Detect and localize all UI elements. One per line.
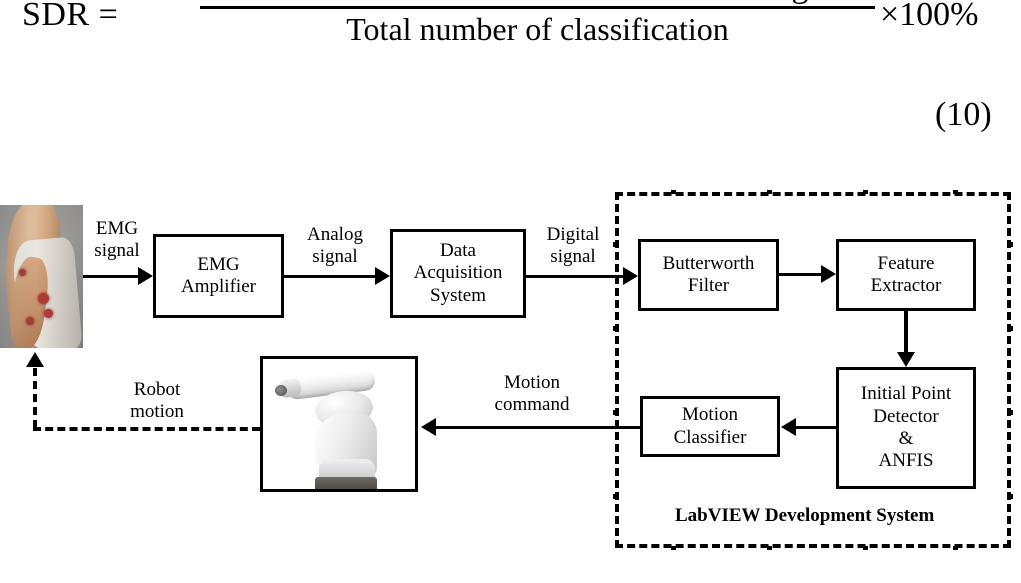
connector-butterworth-filter-to-feature-extractor [779,273,823,276]
arrowhead-anfis-to-motion-classifier [781,418,796,436]
block-emg-amplifier-label: EMG Amplifier [177,254,260,299]
block-butterworth-filter-label: Butterworth Filter [659,253,759,298]
block-initial-point-detector-anfis[interactable]: Initial Point Detector & ANFIS [836,367,976,489]
arrowhead-feature-extractor-to-anfis [897,352,915,367]
edge-label-analog-signal: Analog signal [297,224,373,268]
equation-denominator: Total number of classification [200,11,875,47]
block-emg-amplifier[interactable]: EMG Amplifier [153,234,284,318]
equation-numerator: Number of successful motion following [200,0,875,4]
arrowhead-butterworth-filter-to-feature-extractor [821,265,836,283]
fraction-bar [200,6,875,9]
labview-enclosure-caption: LabVIEW Development System [675,505,934,527]
feedback-path-vertical-robot-to-arm [33,368,37,428]
arrowhead-data-acquisition-to-butterworth-filter [623,267,638,285]
edge-label-digital-signal: Digital signal [534,224,612,268]
edge-label-emg-signal: EMG signal [86,218,148,262]
block-butterworth-filter[interactable]: Butterworth Filter [638,239,779,311]
edge-label-motion-command: Motion command [477,372,587,416]
block-feature-extractor-label: Feature Extractor [867,253,946,298]
block-initial-point-detector-anfis-label: Initial Point Detector & ANFIS [857,383,955,473]
human-arm-with-emg-electrodes-photo [0,205,83,348]
arrowhead-feedback-to-arm [26,352,44,367]
connector-feature-extractor-to-anfis [904,311,908,353]
block-feature-extractor[interactable]: Feature Extractor [836,239,976,311]
arrowhead-arm-to-emg-amplifier [138,267,153,285]
connector-anfis-to-motion-classifier [796,426,838,429]
block-motion-classifier[interactable]: Motion Classifier [640,396,780,457]
feedback-path-horizontal-robot-to-arm [33,427,260,431]
edge-label-robot-motion: Robot motion [112,379,202,423]
equation-multiplier: ×100% [880,0,979,34]
block-data-acquisition-system-label: Data Acquisition System [410,240,507,307]
equation-fraction: Number of successful motion following To… [200,0,875,47]
arrowhead-emg-amplifier-to-data-acquisition [375,267,390,285]
block-motion-classifier-label: Motion Classifier [670,404,751,449]
connector-motion-classifier-to-robot [436,426,641,429]
figure-canvas: SDR = Number of successful motion follow… [0,0,1021,583]
connector-arm-to-emg-amplifier [83,275,139,278]
arrowhead-motion-classifier-to-robot [421,418,436,436]
equation-left-hand-side: SDR = [22,0,118,34]
equation-number: (10) [935,96,992,134]
connector-emg-amplifier-to-data-acquisition [284,275,376,278]
connector-data-acquisition-to-butterworth-filter [526,275,624,278]
block-data-acquisition-system[interactable]: Data Acquisition System [390,229,526,318]
industrial-robot-arm-photo [260,356,418,492]
